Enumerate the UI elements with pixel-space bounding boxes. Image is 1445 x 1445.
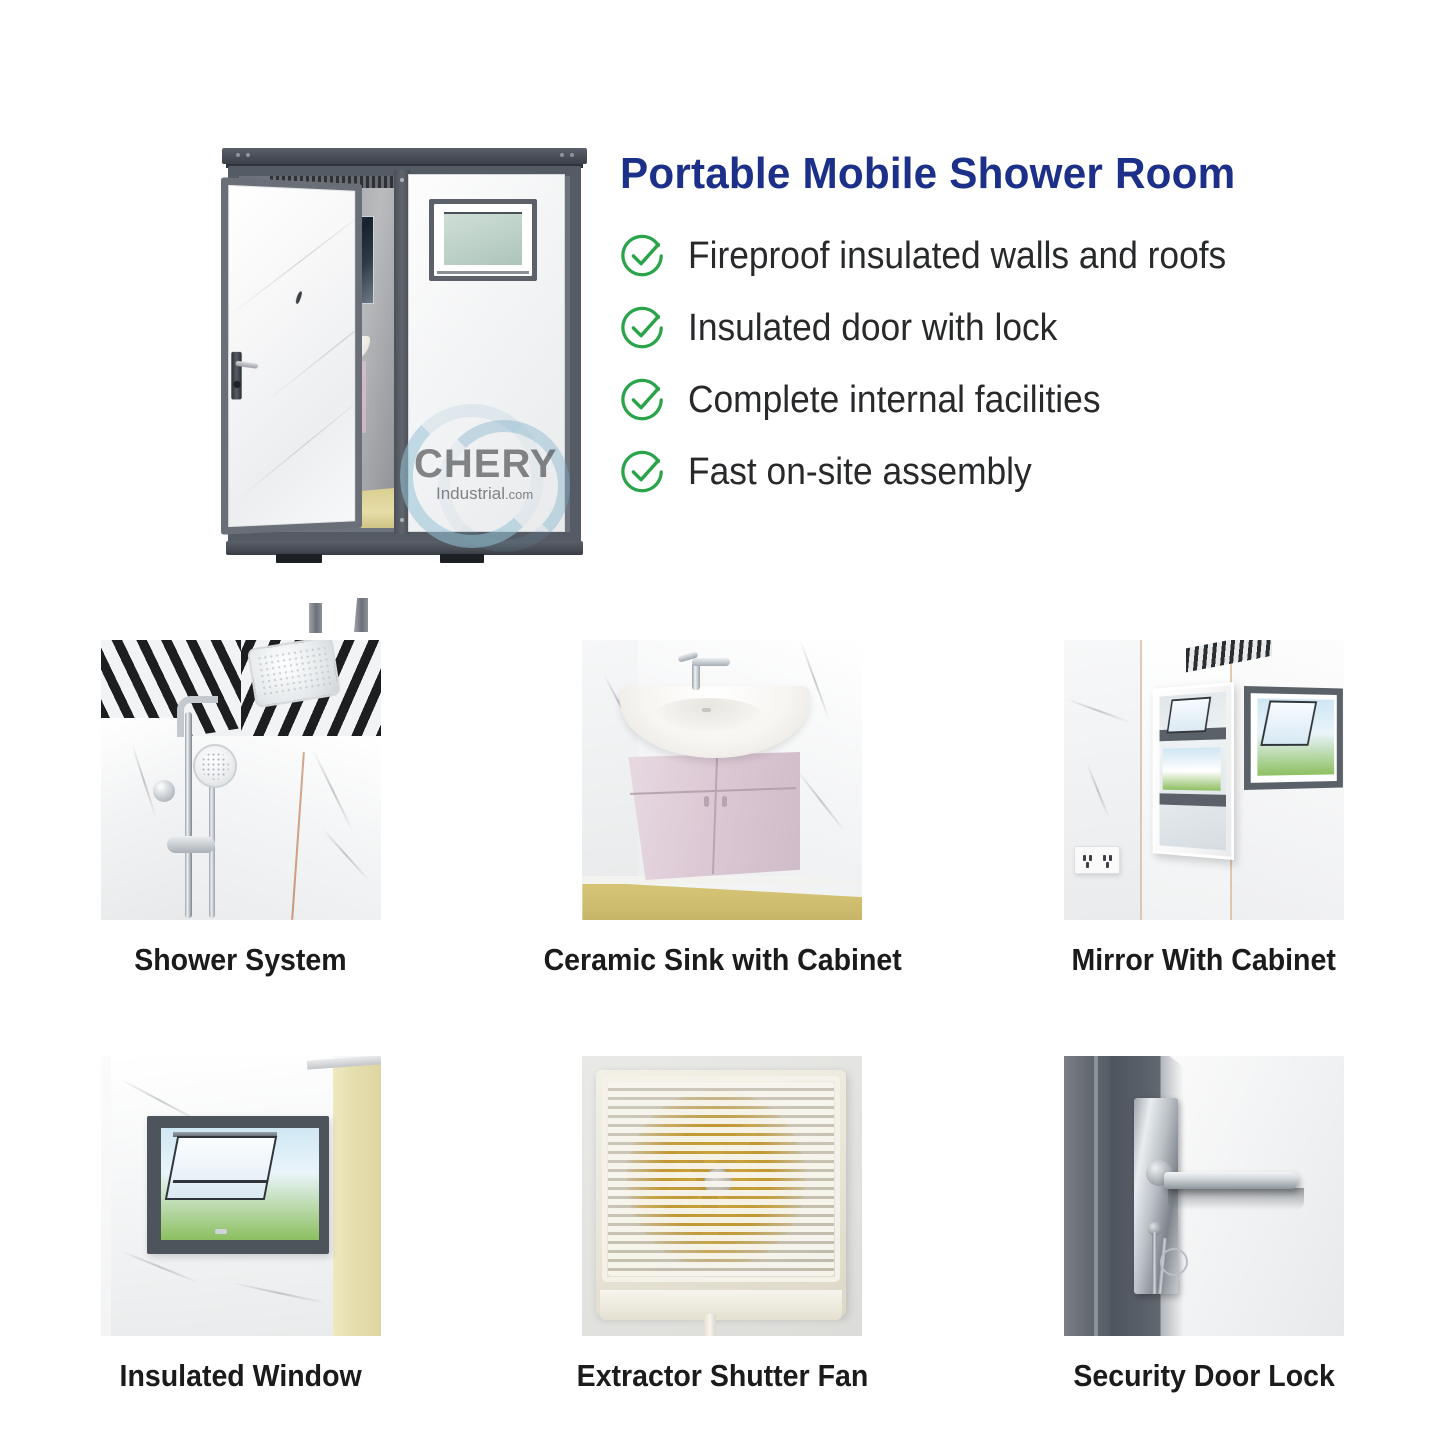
thumbnail-row: Insulated Window Extractor bbox=[0, 1056, 1445, 1394]
feature-caption: Security Door Lock bbox=[1073, 1358, 1335, 1394]
door-key bbox=[1152, 1232, 1157, 1294]
product-infographic: CHERY Industrial.com Portable Mobile Sho… bbox=[0, 0, 1445, 1445]
feature-cell-insulated-window: Insulated Window bbox=[0, 1056, 482, 1394]
fan-base-panel bbox=[600, 1290, 842, 1320]
container-open-door bbox=[221, 177, 362, 534]
feature-bullet: Complete internal facilities bbox=[620, 376, 1410, 424]
feature-caption: Insulated Window bbox=[120, 1358, 362, 1394]
room-window bbox=[1244, 686, 1343, 790]
feature-bullet: Insulated door with lock bbox=[620, 304, 1410, 352]
insulated-window-frame bbox=[147, 1116, 329, 1254]
key-ring bbox=[1160, 1248, 1188, 1276]
door-peephole-mark bbox=[295, 291, 303, 305]
feature-bullet: Fast on-site assembly bbox=[620, 448, 1410, 496]
container-base-rail bbox=[226, 541, 583, 555]
door-lock-handle bbox=[223, 352, 250, 400]
feature-label: Insulated door with lock bbox=[688, 307, 1057, 350]
feature-cell-mirror-cabinet: Mirror With Cabinet bbox=[963, 640, 1445, 978]
feature-label: Fireproof insulated walls and roofs bbox=[688, 235, 1226, 278]
door-lever-handle bbox=[1164, 1172, 1298, 1189]
feature-cell-door-lock: Security Door Lock bbox=[963, 1056, 1445, 1394]
shower-slider-bracket bbox=[167, 836, 215, 853]
security-door-lock-image bbox=[1064, 1056, 1344, 1336]
fan-pull-cord bbox=[704, 1314, 716, 1336]
check-circle-icon bbox=[620, 305, 666, 351]
handheld-shower-head bbox=[193, 744, 237, 788]
window-handle bbox=[215, 1229, 227, 1234]
hero-text-column: Portable Mobile Shower Room Fireproof in… bbox=[620, 152, 1410, 520]
feature-cell-shower-system: Shower System bbox=[0, 640, 482, 978]
window-curtain bbox=[333, 1060, 381, 1336]
door-jamb bbox=[1064, 1056, 1110, 1336]
sink-faucet bbox=[692, 662, 700, 690]
extractor-fan-image bbox=[582, 1056, 862, 1336]
feature-label: Fast on-site assembly bbox=[688, 451, 1032, 494]
page-title: Portable Mobile Shower Room bbox=[620, 152, 1378, 196]
container-roof-cap bbox=[222, 148, 587, 164]
container-side-panel bbox=[408, 174, 565, 532]
main-product-image: CHERY Industrial.com bbox=[82, 140, 602, 580]
shower-valve bbox=[153, 780, 175, 802]
container-window bbox=[429, 199, 537, 281]
check-circle-icon bbox=[620, 449, 666, 495]
thumbnail-row: Shower System bbox=[0, 640, 1445, 978]
feature-cell-ceramic-sink: Ceramic Sink with Cabinet bbox=[482, 640, 964, 978]
mirror-cabinet bbox=[1153, 682, 1234, 860]
image-fragment bbox=[354, 598, 368, 632]
overflow-hole bbox=[702, 708, 711, 712]
mirror-cabinet-image bbox=[1064, 640, 1344, 920]
feature-caption: Shower System bbox=[135, 942, 347, 978]
image-fragment bbox=[309, 603, 322, 633]
shower-system-image bbox=[101, 640, 381, 920]
hero-section: CHERY Industrial.com Portable Mobile Sho… bbox=[0, 130, 1445, 600]
feature-caption: Mirror With Cabinet bbox=[1072, 942, 1336, 978]
insulated-window-image bbox=[101, 1056, 381, 1336]
check-circle-icon bbox=[620, 233, 666, 279]
shower-riser-rail bbox=[185, 712, 192, 918]
ceramic-sink-image bbox=[582, 640, 862, 920]
feature-bullet-list: Fireproof insulated walls and roofs Insu… bbox=[620, 232, 1410, 496]
feature-label: Complete internal facilities bbox=[688, 379, 1100, 422]
check-circle-icon bbox=[620, 377, 666, 423]
feature-caption: Extractor Shutter Fan bbox=[577, 1358, 869, 1394]
power-outlet bbox=[1074, 846, 1120, 874]
feature-thumbnail-grid: Shower System bbox=[0, 640, 1445, 1412]
shower-container-unit bbox=[222, 148, 587, 563]
feature-cell-extractor-fan: Extractor Shutter Fan bbox=[482, 1056, 964, 1394]
feature-bullet: Fireproof insulated walls and roofs bbox=[620, 232, 1410, 280]
feature-caption: Ceramic Sink with Cabinet bbox=[543, 942, 901, 978]
